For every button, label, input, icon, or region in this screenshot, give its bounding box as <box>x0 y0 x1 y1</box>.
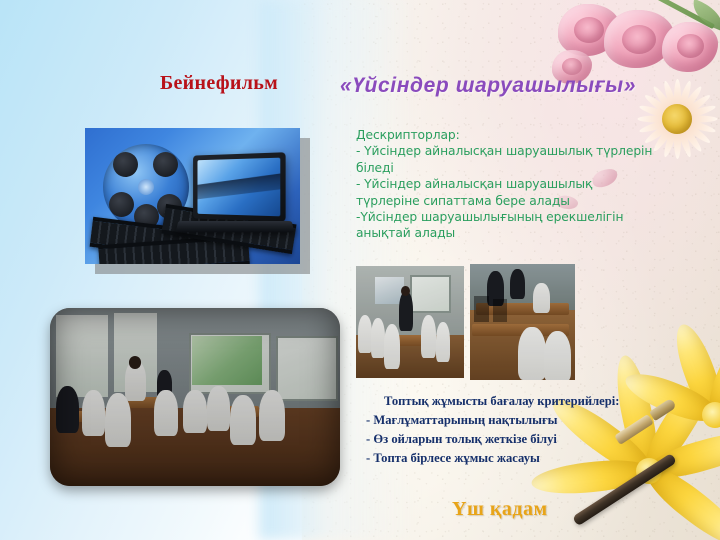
descriptor-line: біледі <box>356 160 686 176</box>
laptop-base-icon <box>176 221 295 232</box>
group-work-photo <box>356 266 464 378</box>
descriptors-label: Дескрипторлар: <box>356 127 686 143</box>
criteria-heading: Топтық жұмысты бағалау критерийлері: <box>358 392 688 411</box>
page-title: «Үйсіндер шаруашылығы» <box>340 74 700 98</box>
heading-video: Бейнефильм <box>104 72 334 95</box>
descriptor-line: - Үйсіндер айналысқан шаруашылық <box>356 176 686 192</box>
criteria-item: - Топта бірлесе жұмыс жасауы <box>358 449 688 468</box>
descriptor-line: -Үйсіндер шаруашылығының ерекшелігін <box>356 209 686 225</box>
descriptor-line: - Үйсіндер айналысқан шаруашылық түрлері… <box>356 143 686 159</box>
descriptors-block: Дескрипторлар: - Үйсіндер айналысқан шар… <box>356 127 686 242</box>
film-reel-laptop-image <box>85 128 300 264</box>
footer-step-label: Үш қадам <box>452 498 548 521</box>
presentation-slide: Бейнефильм «Үйсіндер шаруашылығы» Дескри… <box>0 0 720 540</box>
computer-class-photo <box>470 264 575 380</box>
descriptor-line: анықтай алады <box>356 225 686 241</box>
classroom-lesson-photo <box>50 308 340 486</box>
criteria-item: - Өз ойларын толық жеткізе білуі <box>358 430 688 449</box>
descriptor-line: түрлеріне сипаттама бере алады <box>356 193 686 209</box>
criteria-block: Топтық жұмысты бағалау критерийлері: - М… <box>358 392 688 468</box>
laptop-icon <box>193 152 286 222</box>
criteria-item: - Мағлұматтарының нақтылығы <box>358 411 688 430</box>
